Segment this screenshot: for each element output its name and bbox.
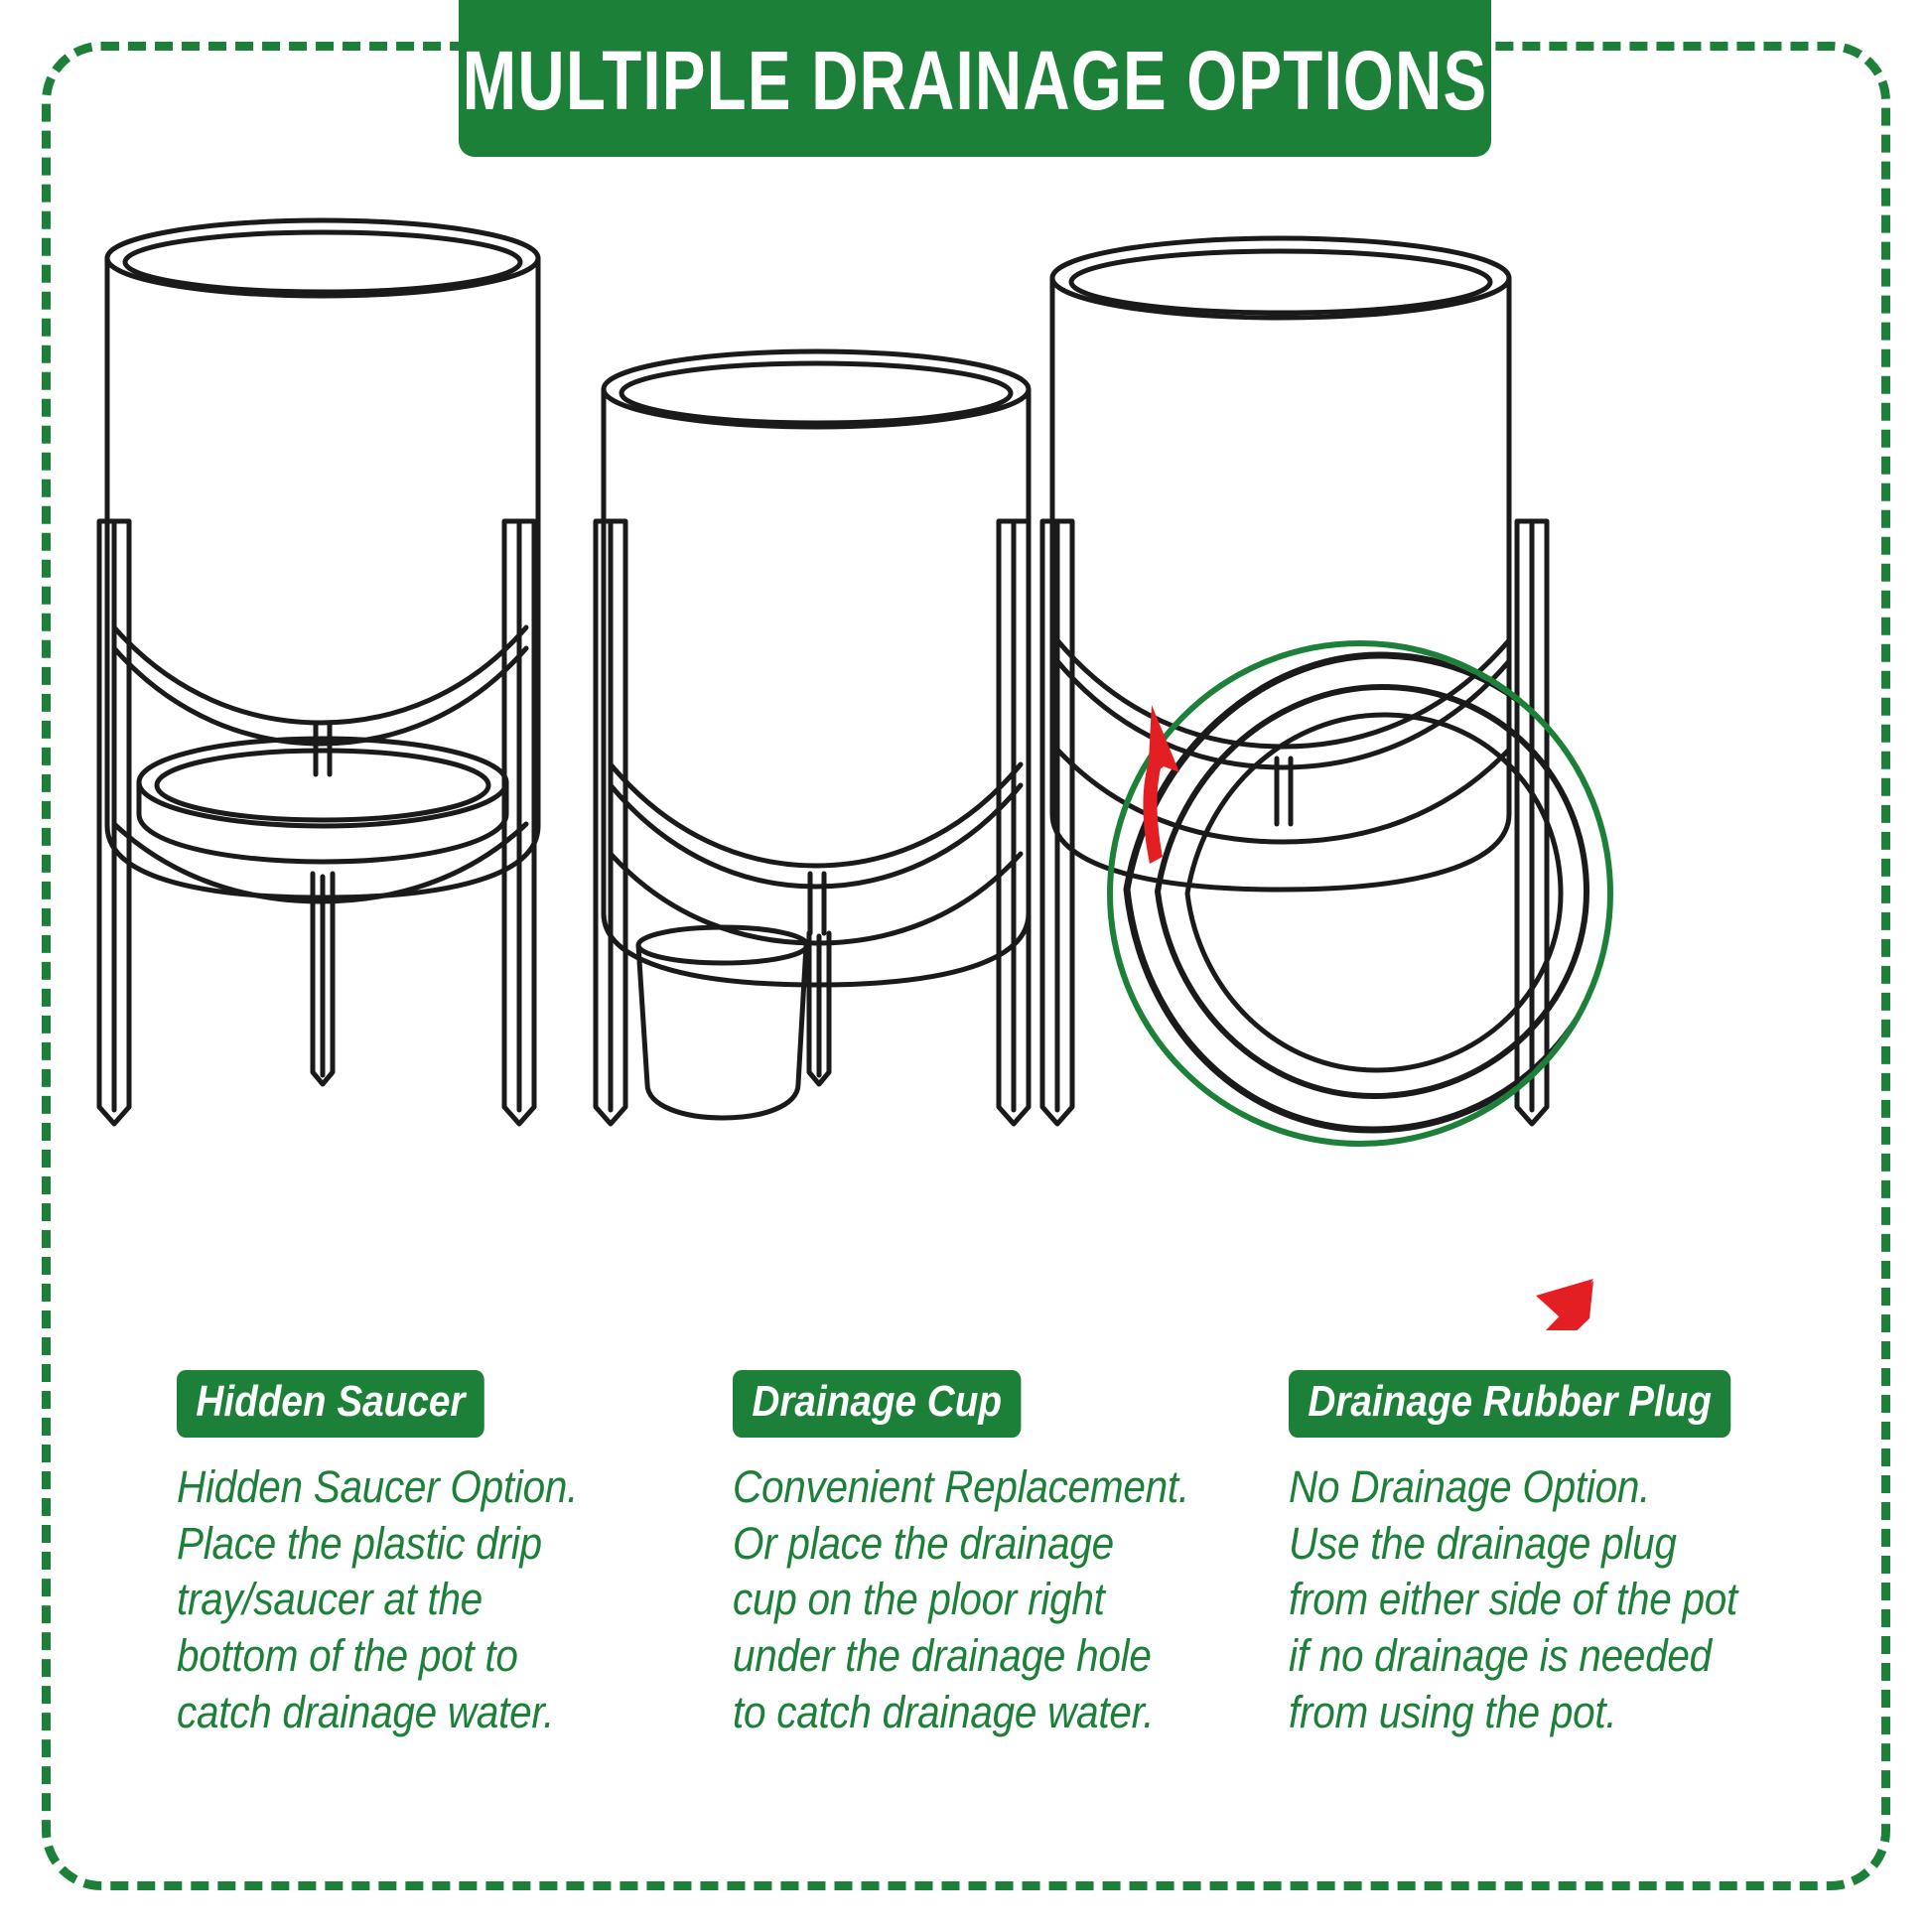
planter-hidden-saucer [99, 220, 538, 1124]
column-hidden-saucer: Hidden Saucer Hidden Saucer Option. Plac… [177, 1370, 733, 1886]
description-columns: Hidden Saucer Hidden Saucer Option. Plac… [0, 1370, 1932, 1886]
planter-drainage-cup [596, 351, 1029, 1124]
planters-illustration [60, 179, 1876, 1330]
planter-rubber-plug [1042, 238, 1547, 1124]
page-title: MULTIPLE DRAINAGE OPTIONS [463, 25, 1488, 122]
body-drainage-cup: Convenient Replacement. Or place the dra… [733, 1459, 1233, 1740]
title-banner: MULTIPLE DRAINAGE OPTIONS [459, 0, 1491, 157]
column-rubber-plug: Drainage Rubber Plug No Drainage Option.… [1289, 1370, 1845, 1886]
column-drainage-cup: Drainage Cup Convenient Replacement. Or … [733, 1370, 1289, 1886]
body-hidden-saucer: Hidden Saucer Option. Place the plastic … [177, 1459, 677, 1740]
badge-rubber-plug: Drainage Rubber Plug [1289, 1370, 1730, 1438]
badge-drainage-cup: Drainage Cup [733, 1370, 1021, 1438]
body-rubber-plug: No Drainage Option. Use the drainage plu… [1289, 1459, 1789, 1740]
plug-insert-arrow [1536, 1279, 1593, 1330]
infographic-page: MULTIPLE DRAINAGE OPTIONS [0, 0, 1932, 1931]
badge-hidden-saucer: Hidden Saucer [177, 1370, 484, 1438]
